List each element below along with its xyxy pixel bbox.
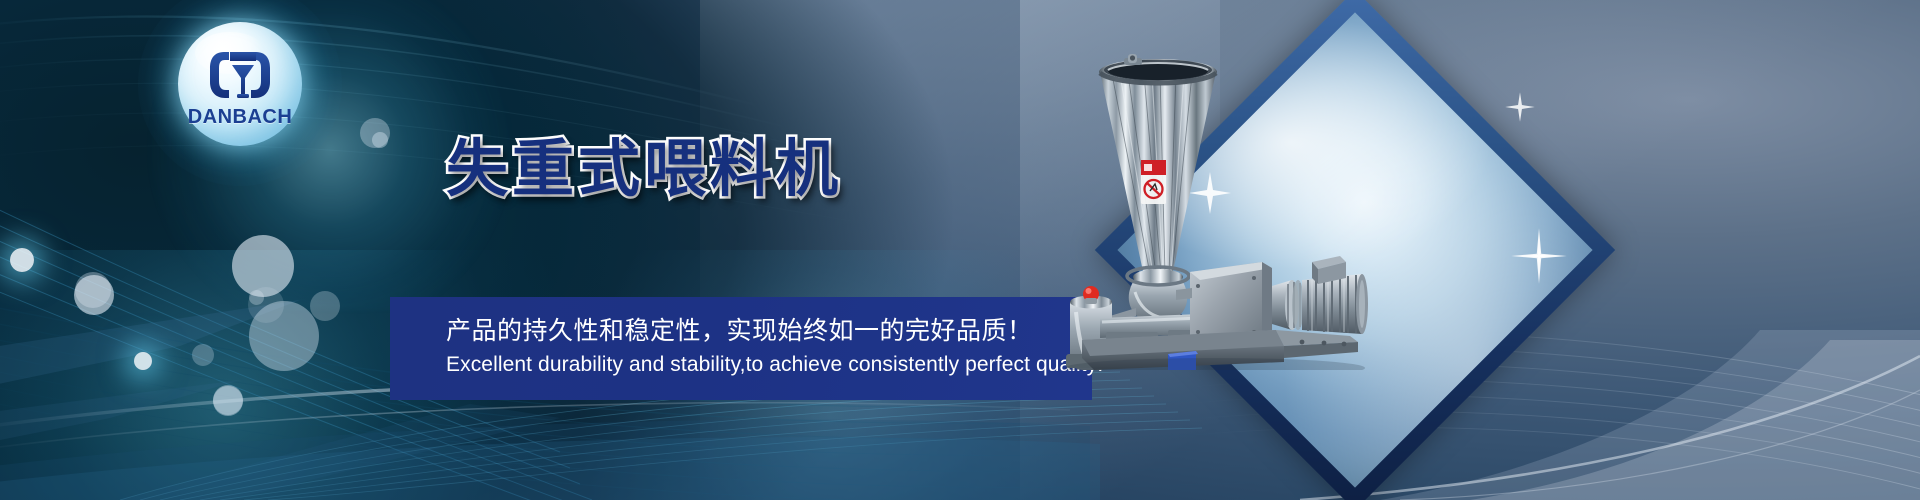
brand-logo[interactable]: DANBACH — [178, 22, 302, 146]
bubble — [310, 291, 340, 321]
danbach-emblem-svg — [204, 48, 276, 104]
bubble — [249, 290, 264, 305]
bubble — [192, 344, 214, 366]
product-image — [1040, 40, 1380, 370]
subtitle-panel: 产品的持久性和稳定性，实现始终如一的完好品质！ Excellent durabi… — [390, 297, 1092, 400]
page-title: 失重式喂料机 — [446, 118, 842, 208]
bubble-glow-small — [134, 352, 152, 370]
bubble — [213, 385, 243, 415]
bubble — [372, 132, 388, 148]
sparkle-icon — [1499, 86, 1541, 128]
subtitle-chinese: 产品的持久性和稳定性，实现始终如一的完好品质！ — [446, 311, 1033, 347]
loss-in-weight-feeder-svg — [1040, 40, 1380, 370]
bubble — [74, 275, 114, 315]
promo-banner: DANBACH 失重式喂料机 失重式喂料机 产品的持久性和稳定性，实现始终如一的… — [0, 0, 1920, 500]
danbach-emblem-icon — [204, 48, 276, 104]
brand-name: DANBACH — [178, 106, 302, 129]
bubble-glow-small — [10, 248, 34, 272]
subtitle-english: Excellent durability and stability,to ac… — [446, 353, 1103, 377]
